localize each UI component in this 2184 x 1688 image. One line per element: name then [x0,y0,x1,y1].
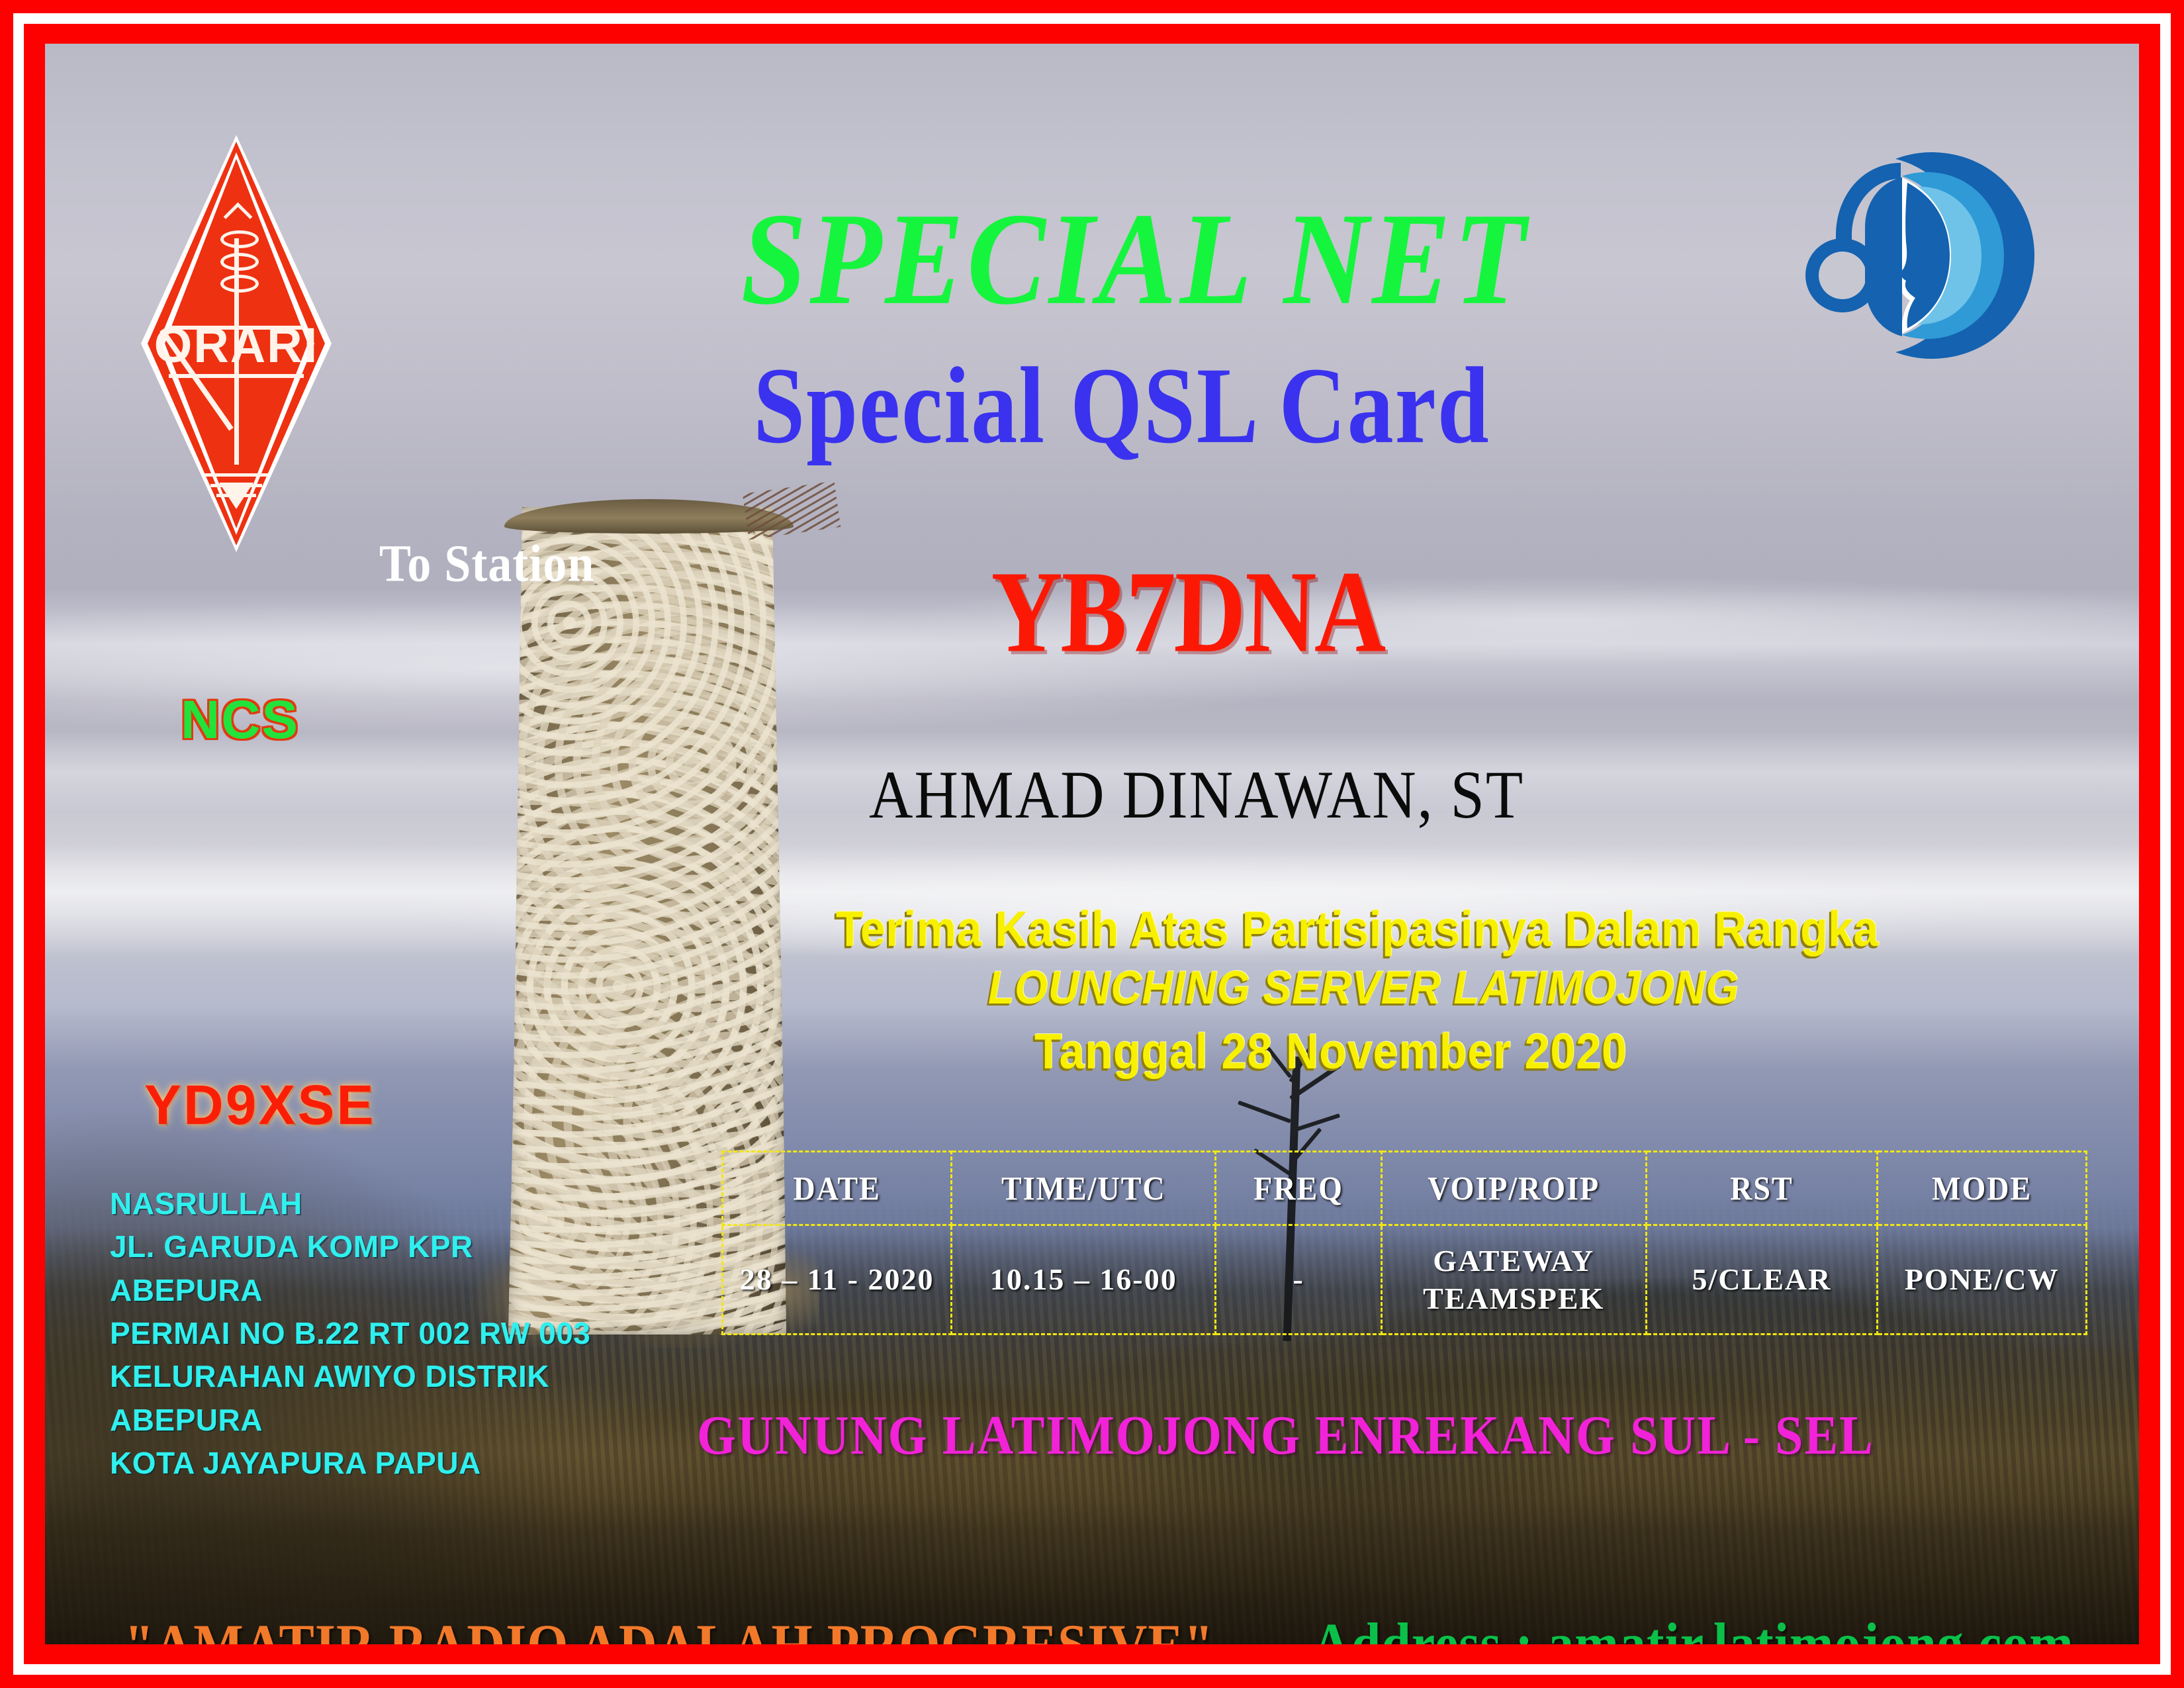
cell-rst: 5/CLEAR [1646,1225,1877,1335]
footer-slogan: "AMATIR RADIO ADALAH PROGRESIVE" [124,1613,1214,1644]
ncs-label: NCS [181,689,299,751]
address-line: ABEPURA [110,1269,705,1312]
ncs-callsign: YD9XSE [144,1073,376,1137]
event-title-line: LOUNCHING SERVER LATIMOJONG [988,961,1739,1014]
card-title-sub: Special QSL Card [45,352,2139,461]
address-line: JL. GARUDA KOMP KPR [110,1225,705,1268]
table-row: 28 – 11 - 2020 10.15 – 16-00 - GATEWAY T… [723,1225,2087,1335]
card-title-main-text: SPECIAL NET [741,193,1529,324]
cell-mode: PONE/CW [1878,1225,2087,1335]
cell-voip-roip: GATEWAY TEAMSPEK [1381,1225,1646,1335]
cell-freq: - [1216,1225,1381,1335]
card-title-main: SPECIAL NET [45,193,2139,324]
ncs-operator-photo: YD9XSE [108,775,386,1053]
station-operator-name: AHMAD DINAWAN, ST [869,755,1524,834]
cell-time: 10.15 – 16-00 [952,1225,1216,1335]
event-thanks-line: Terima Kasih Atas Partisipasinya Dalam R… [836,901,1879,958]
column-header-freq: FREQ [1216,1148,1381,1229]
address-line: PERMAI NO B.22 RT 002 RW 003 [110,1312,705,1355]
column-header-mode: MODE [1878,1148,2087,1229]
card-title-sub-text: Special QSL Card [753,352,1490,461]
table-header-row: DATE TIME/UTC FREQ VOIP/ROIP RST MODE [723,1152,2087,1225]
address-line: KOTA JAYAPURA PAPUA [110,1442,705,1485]
qso-details-table: DATE TIME/UTC FREQ VOIP/ROIP RST MODE 28… [721,1150,2087,1335]
footer-web-address: Address : amatir.latimojong.com [1312,1611,2074,1644]
svg-text:YD9XSE: YD9XSE [175,1005,212,1015]
column-header-date: DATE [723,1148,952,1229]
mountain-location-caption: GUNUNG LATIMOJONG ENREKANG SUL - SEL [697,1404,1874,1468]
qsl-card: ORARI NCS [0,0,2184,1688]
address-line: KELURAHAN AWIYO DISTRIK [110,1355,705,1398]
cell-date: 28 – 11 - 2020 [723,1225,952,1335]
ncs-address-block: NASRULLAH JL. GARUDA KOMP KPR ABEPURA PE… [110,1182,705,1485]
station-callsign: YB7DNA [989,553,1386,671]
address-line: ABEPURA [110,1399,705,1442]
cell-voip-roip-line2: TEAMSPEK [1423,1282,1604,1315]
card-photo-stage: ORARI NCS [45,44,2139,1644]
column-header-rst: RST [1646,1148,1877,1229]
column-header-voip-roip: VOIP/ROIP [1381,1148,1646,1229]
cell-voip-roip-line1: GATEWAY [1433,1244,1594,1278]
address-line: NASRULLAH [110,1182,705,1225]
to-station-label: To Station [379,534,594,594]
event-date-line: Tanggal 28 November 2020 [1034,1023,1627,1080]
column-header-time: TIME/UTC [952,1148,1216,1229]
